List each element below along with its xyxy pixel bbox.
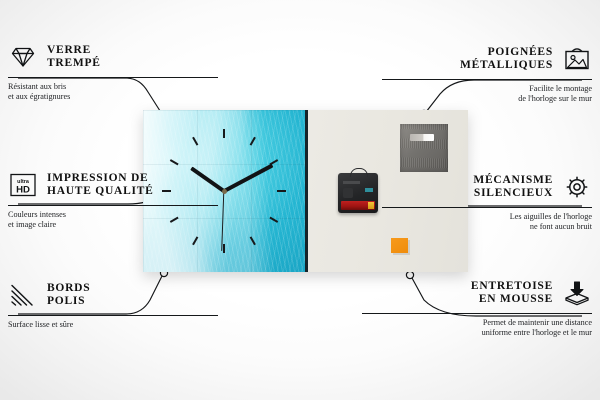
clock-battery	[341, 201, 375, 210]
feature-title: IMPRESSION DE HAUTE QUALITÉ	[47, 172, 154, 199]
hanger-slot	[410, 134, 434, 141]
silent-clock-mechanism	[338, 173, 378, 213]
feature-title-row: VERRE TREMPÉ	[8, 40, 218, 74]
feature-description: Facilite le montage de l'horloge sur le …	[382, 84, 592, 104]
feature-title: BORDS POLIS	[47, 282, 90, 309]
feature-divider	[8, 315, 218, 316]
feature-title: MÉCANISME SILENCIEUX	[473, 174, 553, 201]
foam-spacer	[391, 238, 408, 253]
picture-hanger-icon	[562, 46, 592, 72]
feature-entretoise-en-mousse: ENTRETOISE EN MOUSSE Permet de maintenir…	[362, 276, 592, 338]
battery-terminal	[368, 202, 374, 209]
feature-description: Résistant aux bris et aux égratignures	[8, 82, 218, 102]
feature-description: Couleurs intenses et image claire	[8, 210, 218, 230]
feature-title-row: MÉCANISME SILENCIEUX	[382, 170, 592, 204]
gear-icon	[562, 174, 592, 200]
feature-divider	[362, 313, 592, 314]
diamond-icon	[8, 44, 38, 70]
feature-mecanisme-silencieux: MÉCANISME SILENCIEUX Les aiguilles de l'…	[382, 170, 592, 232]
feature-verre-trempe: VERRE TREMPÉ Résistant aux bris et aux é…	[8, 40, 218, 102]
feature-description: Surface lisse et sûre	[8, 320, 218, 330]
feature-impression-haute-qualite: ultra HD IMPRESSION DE HAUTE QUALITÉ Cou…	[8, 168, 218, 230]
feature-title-row: POIGNÉES MÉTALLIQUES	[382, 42, 592, 76]
metal-hanger-plate	[400, 124, 448, 172]
mechanism-detail	[365, 188, 373, 192]
mechanism-detail	[343, 188, 353, 198]
clock-marker	[223, 129, 225, 191]
polished-edge-icon	[8, 282, 38, 308]
feature-poignees-metalliques: POIGNÉES MÉTALLIQUES Facilite le montage…	[382, 42, 592, 104]
feature-title: ENTRETOISE EN MOUSSE	[471, 280, 553, 307]
feature-title-row: ENTRETOISE EN MOUSSE	[362, 276, 592, 310]
ultra-hd-icon: ultra HD	[8, 172, 38, 198]
feature-divider	[8, 77, 218, 78]
feature-title: POIGNÉES MÉTALLIQUES	[460, 46, 553, 73]
feature-divider	[382, 79, 592, 80]
feature-title: VERRE TREMPÉ	[47, 44, 101, 71]
feature-description: Les aiguilles de l'horloge ne font aucun…	[382, 212, 592, 232]
feature-bords-polis: BORDS POLIS Surface lisse et sûre	[8, 278, 218, 330]
foam-spacer-icon	[562, 280, 592, 306]
ultra-hd-icon-bottom-label: HD	[16, 185, 30, 196]
infographic-canvas: VERRE TREMPÉ Résistant aux bris et aux é…	[0, 0, 600, 400]
mechanism-loop	[350, 168, 368, 177]
mechanism-detail	[343, 181, 360, 184]
feature-description: Permet de maintenir une distance uniform…	[362, 318, 592, 338]
feature-title-row: BORDS POLIS	[8, 278, 218, 312]
feature-divider	[8, 205, 218, 206]
clock-marker	[224, 190, 286, 192]
feature-divider	[382, 207, 592, 208]
feature-title-row: ultra HD IMPRESSION DE HAUTE QUALITÉ	[8, 168, 218, 202]
clock-center-cap	[222, 189, 227, 194]
